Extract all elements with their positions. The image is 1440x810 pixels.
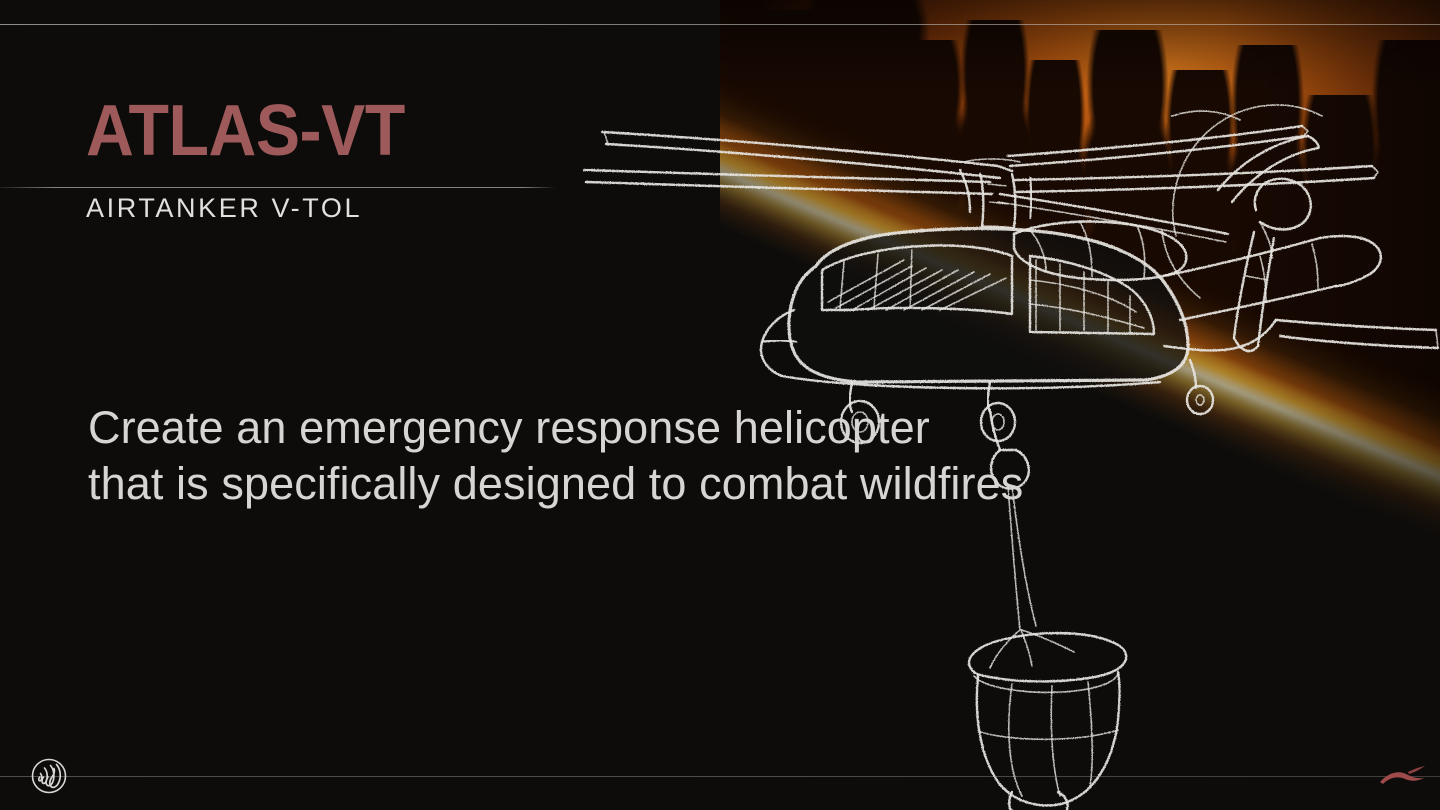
page-title: ATLAS-VT: [86, 96, 730, 167]
spiral-fingerprint-logo[interactable]: [30, 757, 68, 795]
prompt-line-1: Create an emergency response helicopter: [88, 400, 1268, 456]
prompt-line-2: that is specifically designed to combat …: [88, 456, 1268, 512]
title-block: ATLAS-VT: [86, 96, 786, 167]
prompt-text: Create an emergency response helicopter …: [88, 400, 1268, 512]
top-divider-rule: [0, 24, 1440, 25]
bottom-divider-rule: [0, 776, 1440, 777]
red-swoosh-mark: [1378, 760, 1426, 792]
wildfire-photo: [720, 0, 1440, 660]
title-divider-rule: [0, 187, 556, 188]
slide-canvas: ATLAS-VT AIRTANKER V-TOL Create an emerg…: [0, 0, 1440, 810]
page-subtitle: AIRTANKER V-TOL: [86, 193, 362, 224]
photo-vignette: [720, 0, 1440, 660]
